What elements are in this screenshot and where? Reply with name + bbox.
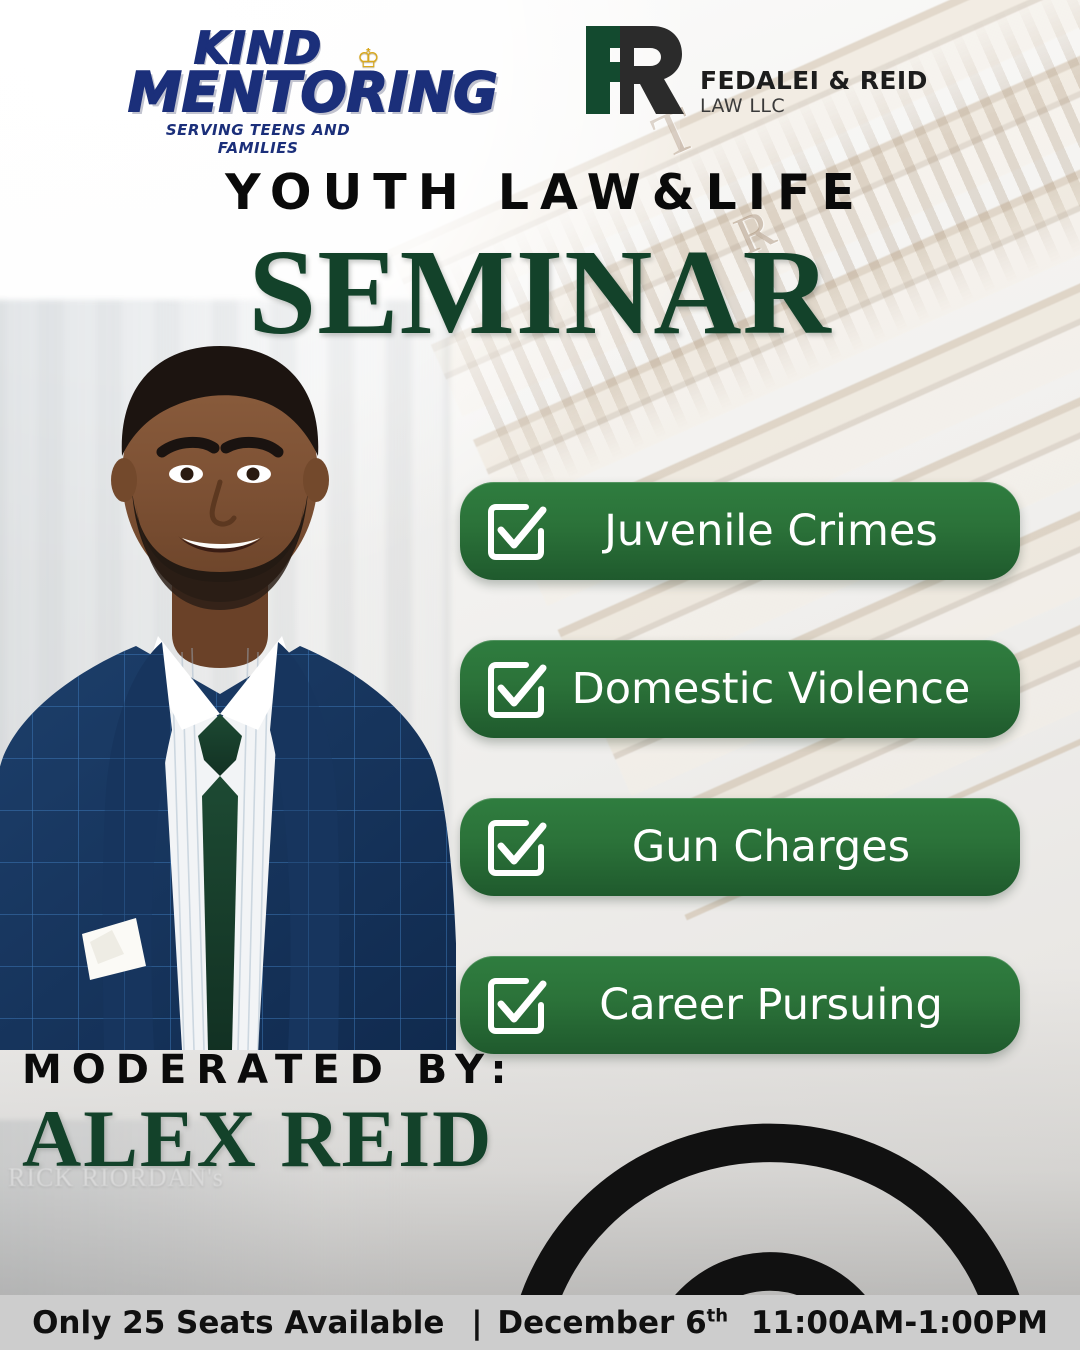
fedalei-reid-logo: FEDALEI & REID LAW LLC [578, 22, 928, 118]
topic-pill[interactable]: Domestic Violence [460, 640, 1020, 738]
kind-mentoring-word: MENTORING [128, 61, 498, 124]
moderator-portrait [0, 290, 456, 1050]
fr-monogram-icon [578, 22, 690, 118]
checkbox-checked-icon [484, 657, 548, 721]
footer-text: Only 25 Seats Available | December 6th 1… [32, 1305, 1048, 1341]
topic-pill[interactable]: Career Pursuing [460, 956, 1020, 1054]
moderator-kicker: MODERATED BY: [22, 1050, 517, 1090]
footer-date: December 6 [497, 1305, 706, 1341]
fr-firm-sub: LAW LLC [700, 97, 928, 116]
kind-mentoring-tagline: SERVING TEENS AND FAMILIES [128, 121, 388, 157]
fr-wordmark: FEDALEI & REID LAW LLC [700, 24, 928, 116]
footer-separator: | [467, 1305, 486, 1341]
kind-mentoring-logo: KIND MENTORING ♔ SERVING TEENS AND FAMIL… [128, 28, 388, 168]
footer-date-suffix: th [707, 1305, 728, 1326]
topic-label: Gun Charges [548, 822, 1020, 872]
footer-bar: Only 25 Seats Available | December 6th 1… [0, 1295, 1080, 1350]
topic-label: Juvenile Crimes [548, 506, 1020, 556]
checkbox-checked-icon [484, 499, 548, 563]
footer-time: 11:00AM-1:00PM [751, 1305, 1048, 1341]
checkbox-checked-icon [484, 973, 548, 1037]
moderator-block: MODERATED BY: ALEX REID [22, 1050, 517, 1182]
moderator-name: ALEX REID [22, 1096, 517, 1182]
topic-pill[interactable]: Gun Charges [460, 798, 1020, 896]
topic-label: Career Pursuing [548, 980, 1020, 1030]
fr-firm-name: FEDALEI & REID [700, 68, 928, 93]
topic-label: Domestic Violence [548, 664, 1020, 714]
headline-kicker: YOUTH LAW&LIFE [0, 168, 1080, 217]
crown-icon: ♔ [357, 48, 380, 72]
topics-list: Juvenile Crimes Domestic Violence Gun Ch… [460, 482, 1020, 1054]
topic-pill[interactable]: Juvenile Crimes [460, 482, 1020, 580]
seminar-flyer: T R RICK RIORDAN's KIND MENTORING ♔ SERV… [0, 0, 1080, 1350]
kind-mentoring-line2: MENTORING ♔ [128, 68, 388, 118]
checkbox-checked-icon [484, 815, 548, 879]
footer-seats: Only 25 Seats Available [32, 1305, 444, 1341]
